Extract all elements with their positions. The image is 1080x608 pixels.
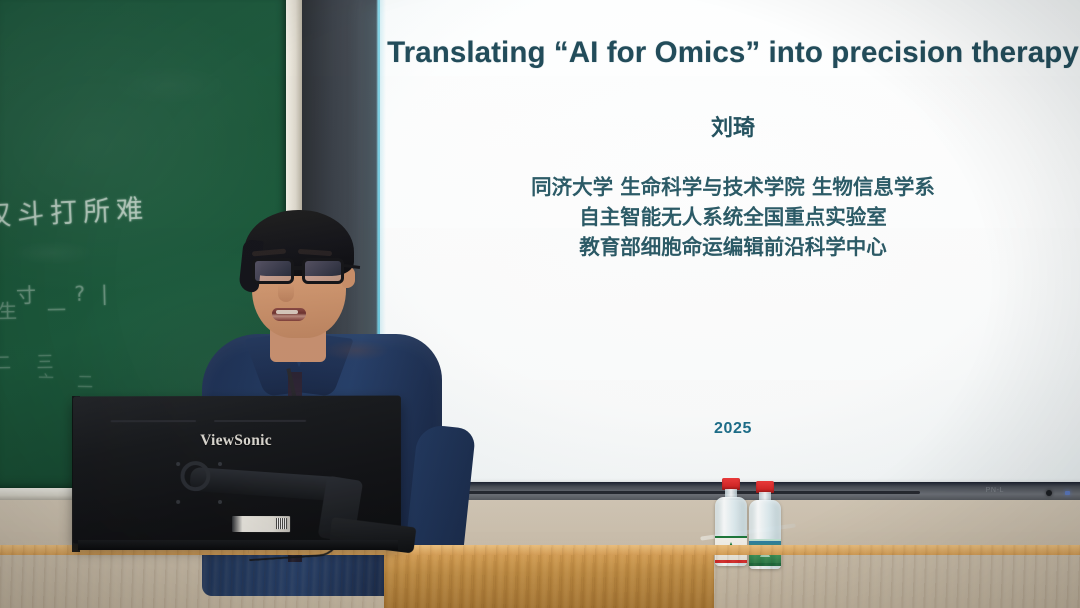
chalk-writing-line-5: 亠 二 xyxy=(38,367,103,392)
glasses-lens-left xyxy=(252,258,294,284)
projection-screen: Translating “AI for Omics” into precisio… xyxy=(378,0,1080,488)
speaker-nose xyxy=(278,284,294,302)
speaker-glasses-icon xyxy=(248,258,352,286)
viewsonic-monitor: ViewSonic xyxy=(72,396,400,564)
speaker-mouth xyxy=(272,308,306,321)
vesa-screw-2 xyxy=(218,462,222,466)
bezel-model-text: PN-L xyxy=(986,487,1004,494)
chalk-writing-line-1: 汉斗打所难 xyxy=(0,187,150,233)
monitor-vent-right xyxy=(214,420,306,422)
slide-affiliations: 同济大学 生命科学与技术学院 生物信息学系 自主智能无人系统全国重点实验室 教育… xyxy=(378,172,1080,262)
affiliation-line-2: 自主智能无人系统全国重点实验室 xyxy=(378,202,1080,232)
monitor-stand-arm xyxy=(189,467,341,502)
monitor-bottom-edge xyxy=(78,540,398,550)
affiliation-line-3: 教育部细胞命运编辑前沿科学中心 xyxy=(378,232,1080,262)
lecture-photo-scene: 汉斗打所难 寸 ?| 生 一 二 三 亠 二 Translating “AI f… xyxy=(0,0,1080,608)
slide-author-name: 刘琦 xyxy=(378,110,1080,142)
bezel-sensor-icon xyxy=(1046,490,1052,496)
speaker-chin-shadow xyxy=(314,340,398,366)
monitor-back-panel: ViewSonic xyxy=(73,396,401,545)
vesa-screw-3 xyxy=(176,500,180,504)
glasses-lens-right xyxy=(302,258,344,284)
monitor-brand-logo: ViewSonic xyxy=(73,432,401,450)
vesa-screw-4 xyxy=(218,500,222,504)
monitor-vent-left xyxy=(111,420,196,422)
slide-content: Translating “AI for Omics” into precisio… xyxy=(378,0,1080,488)
affiliation-line-1: 同济大学 生命科学与技术学院 生物信息学系 xyxy=(378,172,1080,202)
glasses-bridge xyxy=(294,266,304,270)
chalk-writing-line-3: 生 一 xyxy=(0,295,78,323)
vesa-screw-1 xyxy=(176,462,180,466)
bezel-power-led-icon xyxy=(1065,491,1070,495)
slide-year: 2025 xyxy=(378,420,1080,438)
slide-title: Translating “AI for Omics” into precisio… xyxy=(378,36,1080,70)
